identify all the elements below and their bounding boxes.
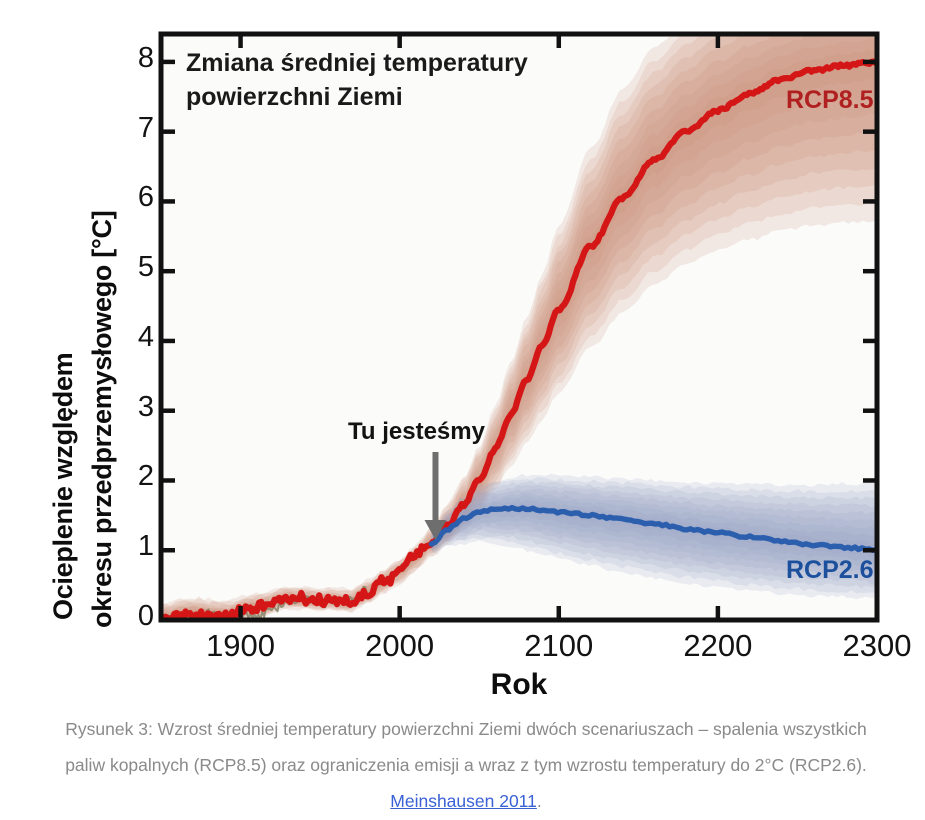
- series-label-rcp85: RCP8.5: [786, 86, 874, 115]
- series-label-rcp26: RCP2.6: [786, 556, 874, 585]
- annotation-here-label: Tu jesteśmy: [348, 418, 485, 446]
- caption-text-suffix: .: [537, 791, 542, 811]
- x-axis-title: Rok: [160, 668, 878, 702]
- x-tick-label: 2200: [658, 628, 778, 664]
- x-tick-label: 2100: [499, 628, 619, 664]
- x-tick-label: 1900: [181, 628, 301, 664]
- caption-source-link[interactable]: Meinshausen 2011: [390, 791, 537, 811]
- x-tick-label: 2000: [340, 628, 460, 664]
- figure-caption: Rysunek 3: Wzrost średniej temperatury p…: [46, 712, 886, 820]
- chart-title: Zmiana średniej temperatury powierzchni …: [186, 46, 606, 114]
- figure-root: Ocieplenie względem okresu przedprzemysł…: [0, 0, 925, 819]
- caption-text: Rysunek 3: Wzrost średniej temperatury p…: [65, 719, 867, 775]
- climate-chart: Ocieplenie względem okresu przedprzemysł…: [0, 0, 925, 706]
- x-tick-label: 2300: [817, 628, 925, 664]
